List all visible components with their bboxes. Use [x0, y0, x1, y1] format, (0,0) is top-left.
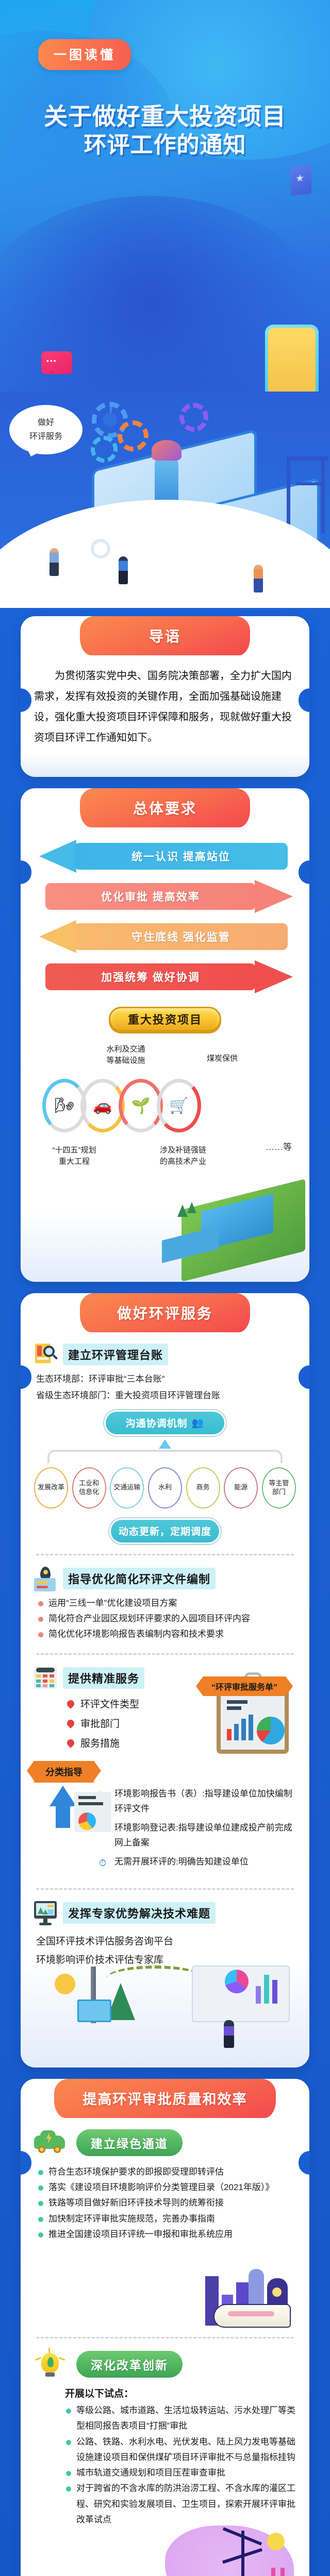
solar-monitor-illustration: [34, 1964, 296, 2052]
project-bottom-labels: “十四五”规划 重大工程 涉及补链强链 的高技术产业: [34, 1145, 296, 1167]
chat-bubble-icon: [41, 351, 72, 374]
green-channel-bullet-2: 落实《建设项目环境影响评价分类管理目录（2021年版）》: [37, 2180, 296, 2195]
section-intro-header: 导语: [21, 616, 309, 655]
reform-bullet-4: 对于跨省的不含水库的防洪治涝工程、不含水库的灌区工程、研究和实验发展项目、卫生项…: [65, 2481, 296, 2528]
arrow-head-left-3: [39, 920, 76, 953]
page-title: 关于做好重大投资项目 环评工作的通知: [0, 102, 330, 160]
project-circle-4: 🛒: [157, 1079, 201, 1132]
section-eia-service: 做好环评服务 建立环评管理台账 生态环境部：环评审批“三本台账” 省级生态环境部…: [21, 1293, 309, 2067]
ledger-line-2: 省级生态环境部门：重大投资项目环评管理台账: [36, 1388, 296, 1403]
section-eia-service-title: 做好环评服务: [80, 1293, 250, 1332]
requirement-arrow-4: 加强统筹 做好协调: [34, 959, 296, 993]
precise-service-pin-3: 服务措施: [65, 1734, 296, 1754]
project-label-3: 涉及补链强链 的高技术产业: [144, 1145, 222, 1167]
classified-line-3: ⏱ 无需开展环评的:明确告知建设单位: [96, 1855, 296, 1871]
project-top-labels: 水利及交通 等基础设施 煤炭保供: [34, 1044, 296, 1066]
requirement-arrow-2: 优化审批 提高效率: [34, 879, 296, 913]
intro-paragraph: 为贯彻落实党中央、国务院决策部署，全力扩大国内需求，发挥有效投资的关键作用，全面…: [34, 666, 296, 748]
service-order-tag: “环评审批服务单”: [203, 1676, 286, 1696]
precise-service-pin-2: 审批部门: [65, 1715, 296, 1734]
requirement-arrow-4-label: 加强统筹 做好协调: [45, 963, 256, 990]
arrow-head-right-4: [255, 960, 293, 993]
requirement-arrow-2-label: 优化审批 提高效率: [45, 883, 256, 910]
people-icon: 👥: [192, 1417, 205, 1429]
group-reform-header: 深化改革创新: [34, 2350, 296, 2379]
green-channel-bullets: 符合生态环境保护要求的即报即受理即转评估 落实《建设项目环境影响评价分类管理目录…: [37, 2164, 296, 2242]
section-approval-quality: 提高环评审批质量和效率 建立绿色通道 符合生态环境保护要求的即报即受理即转评估 …: [21, 2079, 309, 2576]
project-circle-row: 🌬 🚗 🌱 🛒 ……等: [34, 1079, 296, 1132]
location-speech-icon: [34, 1567, 57, 1589]
star-flag-icon: [291, 165, 311, 196]
green-channel-pill: 建立绿色通道: [76, 2129, 183, 2156]
subsection-ledger-heading: 建立环评管理台账: [63, 1344, 168, 1365]
calendar-icon: [34, 1666, 57, 1689]
energy-illustration: [34, 2523, 296, 2576]
dam-illustration: [34, 1189, 296, 1266]
subsection-optimize-docs: 指导优化简化环评文件编制: [34, 1567, 296, 1589]
up-arrow-icon: [159, 1439, 171, 1449]
classified-line-3-text: 无需开展环评的:明确告知建设单位: [114, 1855, 249, 1870]
optimize-docs-bullet-1: 运用“三线一单”优化建设项目方案: [37, 1596, 296, 1611]
gear-icon-4: [179, 403, 208, 432]
arrow-stem: [56, 1805, 70, 1828]
department-6: 能源: [224, 1467, 258, 1509]
project-label-4: 煤炭保供: [194, 1044, 251, 1066]
ledger-line-1: 生态环境部：环评审批“三本台账”: [36, 1371, 296, 1387]
green-channel-bullet-1: 符合生态环境保护要求的即报即受理即转评估: [37, 2164, 296, 2180]
section-eia-service-header: 做好环评服务: [21, 1293, 309, 1332]
gear-icon-3: [91, 436, 118, 463]
wind-turbine-icon: 🌬: [55, 1097, 74, 1115]
optimize-docs-bullet-2: 简化符合产业园区规划环评要求的入园项目环评内容: [37, 1611, 296, 1626]
dynamic-update-pill: 动态更新，定期调度: [111, 1520, 219, 1543]
section-overall-header: 总体要求: [21, 788, 309, 827]
reform-bullet-3: 城市轨道交通规划和项目压茬审查审批: [65, 2465, 296, 2481]
section-overall-requirements: 总体要求 统一认识 提高站位 优化审批 提高效率 守住底线 强化监管 加强统筹 …: [21, 788, 309, 1282]
department-2: 工业和 信息化: [72, 1467, 106, 1509]
clock-icon: ⏱: [96, 1855, 109, 1871]
phone-illustration: [265, 325, 319, 392]
read-in-one-picture-ribbon: 一图读懂: [38, 39, 131, 70]
project-label-1: “十四五”规划 重大工程: [38, 1145, 110, 1167]
requirement-arrow-3: 守住底线 强化监管: [34, 919, 296, 953]
experts-line-1: 全国环评技术评估服务咨询平台: [36, 1933, 296, 1950]
coal-cart-icon: 🛒: [169, 1097, 188, 1115]
speech-bubble: 做好 环评服务: [9, 405, 82, 454]
green-channel-bullet-4: 加快制定环评审批实施规范，完善办事指南: [37, 2211, 296, 2227]
department-5: 商务: [186, 1467, 220, 1509]
precise-service-pins: 环评文件类型 审批部门 服务措施: [65, 1695, 296, 1754]
page-title-line2: 环评工作的通知: [0, 131, 330, 160]
subsection-optimize-docs-heading: 指导优化简化环评文件编制: [63, 1568, 216, 1589]
magnifier-icon: [91, 539, 110, 558]
worker-figure-3: [254, 565, 263, 592]
section-intro: 导语 为贯彻落实党中央、国务院决策部署，全力扩大国内需求，发挥有效投资的关键作用…: [21, 616, 309, 777]
optimize-docs-bullet-3: 简化优化环境影响报告表编制内容和技术要求: [37, 1626, 296, 1642]
vehicle-icon: 🚗: [93, 1097, 112, 1115]
department-4: 水利: [148, 1467, 182, 1509]
classified-guidance-tag: 分类指导: [34, 1761, 94, 1783]
arrow-head-left-1: [39, 840, 76, 873]
subsection-ledger: 建立环评管理台账: [34, 1343, 296, 1365]
divider-2: [36, 1653, 294, 1655]
speech-bubble-line1: 做好: [38, 416, 54, 430]
subsection-experts: 发挥专家优势解决技术难题: [34, 1901, 296, 1927]
document-search-icon: [34, 1343, 57, 1365]
classified-line-2: ✉ 环境影响登记表:指导建设单位建成投产前完成网上备案: [96, 1821, 296, 1851]
speech-bubble-line2: 环评服务: [29, 430, 62, 444]
classified-line-2-text: 环境影响登记表:指导建设单位建成投产前完成网上备案: [114, 1821, 296, 1851]
reform-bullet-2: 公路、铁路、水利水电、光伏发电、陆上风力发电等基础设施建设项目和保供煤矿项目环评…: [65, 2434, 296, 2466]
green-channel-bullet-3: 铁路等项目做好新旧环评技术导则的统筹衔接: [37, 2195, 296, 2211]
up-arrow-blue-icon: [49, 1786, 76, 1806]
reform-bullet-1: 等级公路、城市道路、生活垃圾转运站、污水处理厂等类型相同报告表项目“打捆”审批: [65, 2403, 296, 2434]
requirement-arrow-list: 统一认识 提高站位 优化审批 提高效率 守住底线 强化监管 加强统筹 做好协调: [34, 839, 296, 993]
optimize-docs-bullets: 运用“三线一单”优化建设项目方案 简化符合产业园区规划环评要求的入园项目环评内容…: [37, 1596, 296, 1642]
section-approval-quality-title: 提高环评审批质量和效率: [54, 2079, 276, 2118]
requirement-arrow-1-label: 统一认识 提高站位: [74, 843, 288, 870]
service-illustration-band: 做好 环评服务: [0, 392, 330, 608]
classified-line-1-text: 环境影响报告书（表）:指导建设单位加快编制环评文件: [114, 1787, 296, 1817]
section-approval-quality-header: 提高环评审批质量和效率: [21, 2079, 309, 2118]
department-3: 交通运输: [110, 1467, 144, 1509]
green-car-icon: [34, 2128, 67, 2157]
coordination-mechanism-label: 沟通协调机制: [126, 1416, 188, 1430]
infographic-page: 一图读懂 关于做好重大投资项目 环评工作的通知 做好 环评服务 导语: [0, 0, 330, 2576]
department-7: 等主管 部门: [262, 1467, 296, 1509]
classified-line-1: ⚑ 环境影响报告书（表）:指导建设单位加快编制环评文件: [96, 1787, 296, 1817]
hero-banner: 一图读懂 关于做好重大投资项目 环评工作的通知: [0, 0, 330, 392]
city-train-illustration: [34, 2238, 296, 2326]
worker-figure-2: [119, 556, 128, 584]
reform-bullets: 等级公路、城市道路、生活垃圾转运站、污水处理厂等类型相同报告表项目“打捆”审批 …: [65, 2403, 296, 2528]
coordination-mechanism-pill: 沟通协调机制 👥: [106, 1412, 224, 1434]
group-green-channel-header: 建立绿色通道: [34, 2128, 296, 2157]
reform-intro: 开展以下试点：: [65, 2386, 296, 2400]
section-overall-title: 总体要求: [80, 788, 250, 827]
department-1: 发展改革: [34, 1467, 68, 1509]
subsection-experts-heading: 发挥专家优势解决技术难题: [63, 1902, 216, 1924]
lightbulb-icon: [34, 2350, 67, 2379]
gear-icon-2: [118, 420, 148, 451]
monitor-icon: [34, 1901, 57, 1927]
crane-icon: [287, 456, 325, 534]
divider-3: [36, 1888, 294, 1890]
major-investment-project-badge: 重大投资项目: [109, 1007, 221, 1031]
section-intro-title: 导语: [80, 616, 250, 655]
arrow-head-right-2: [255, 880, 293, 913]
project-label-2: 水利及交通 等基础设施: [95, 1044, 157, 1066]
org-bracket: [47, 1450, 283, 1463]
reform-pill: 深化改革创新: [76, 2351, 183, 2378]
sprout-hand-icon: 🌱: [131, 1097, 150, 1115]
subsection-precise-service-heading: 提供精准服务: [63, 1667, 144, 1689]
project-categories: 水利及交通 等基础设施 煤炭保供 🌬 🚗 🌱 🛒 ……等 “: [34, 1044, 296, 1193]
department-row: 发展改革 工业和 信息化 交通运输 水利 商务 能源 等主管 部门: [34, 1467, 296, 1509]
divider-1: [36, 1554, 294, 1555]
page-title-line1: 关于做好重大投资项目: [0, 102, 330, 131]
precise-service-pin-1: 环评文件类型: [65, 1695, 296, 1715]
requirement-arrow-1: 统一认识 提高站位: [34, 839, 296, 873]
worker-figure-1: [49, 548, 59, 576]
requirement-arrow-3-label: 守住底线 强化监管: [74, 923, 288, 950]
divider-4: [36, 2337, 294, 2338]
